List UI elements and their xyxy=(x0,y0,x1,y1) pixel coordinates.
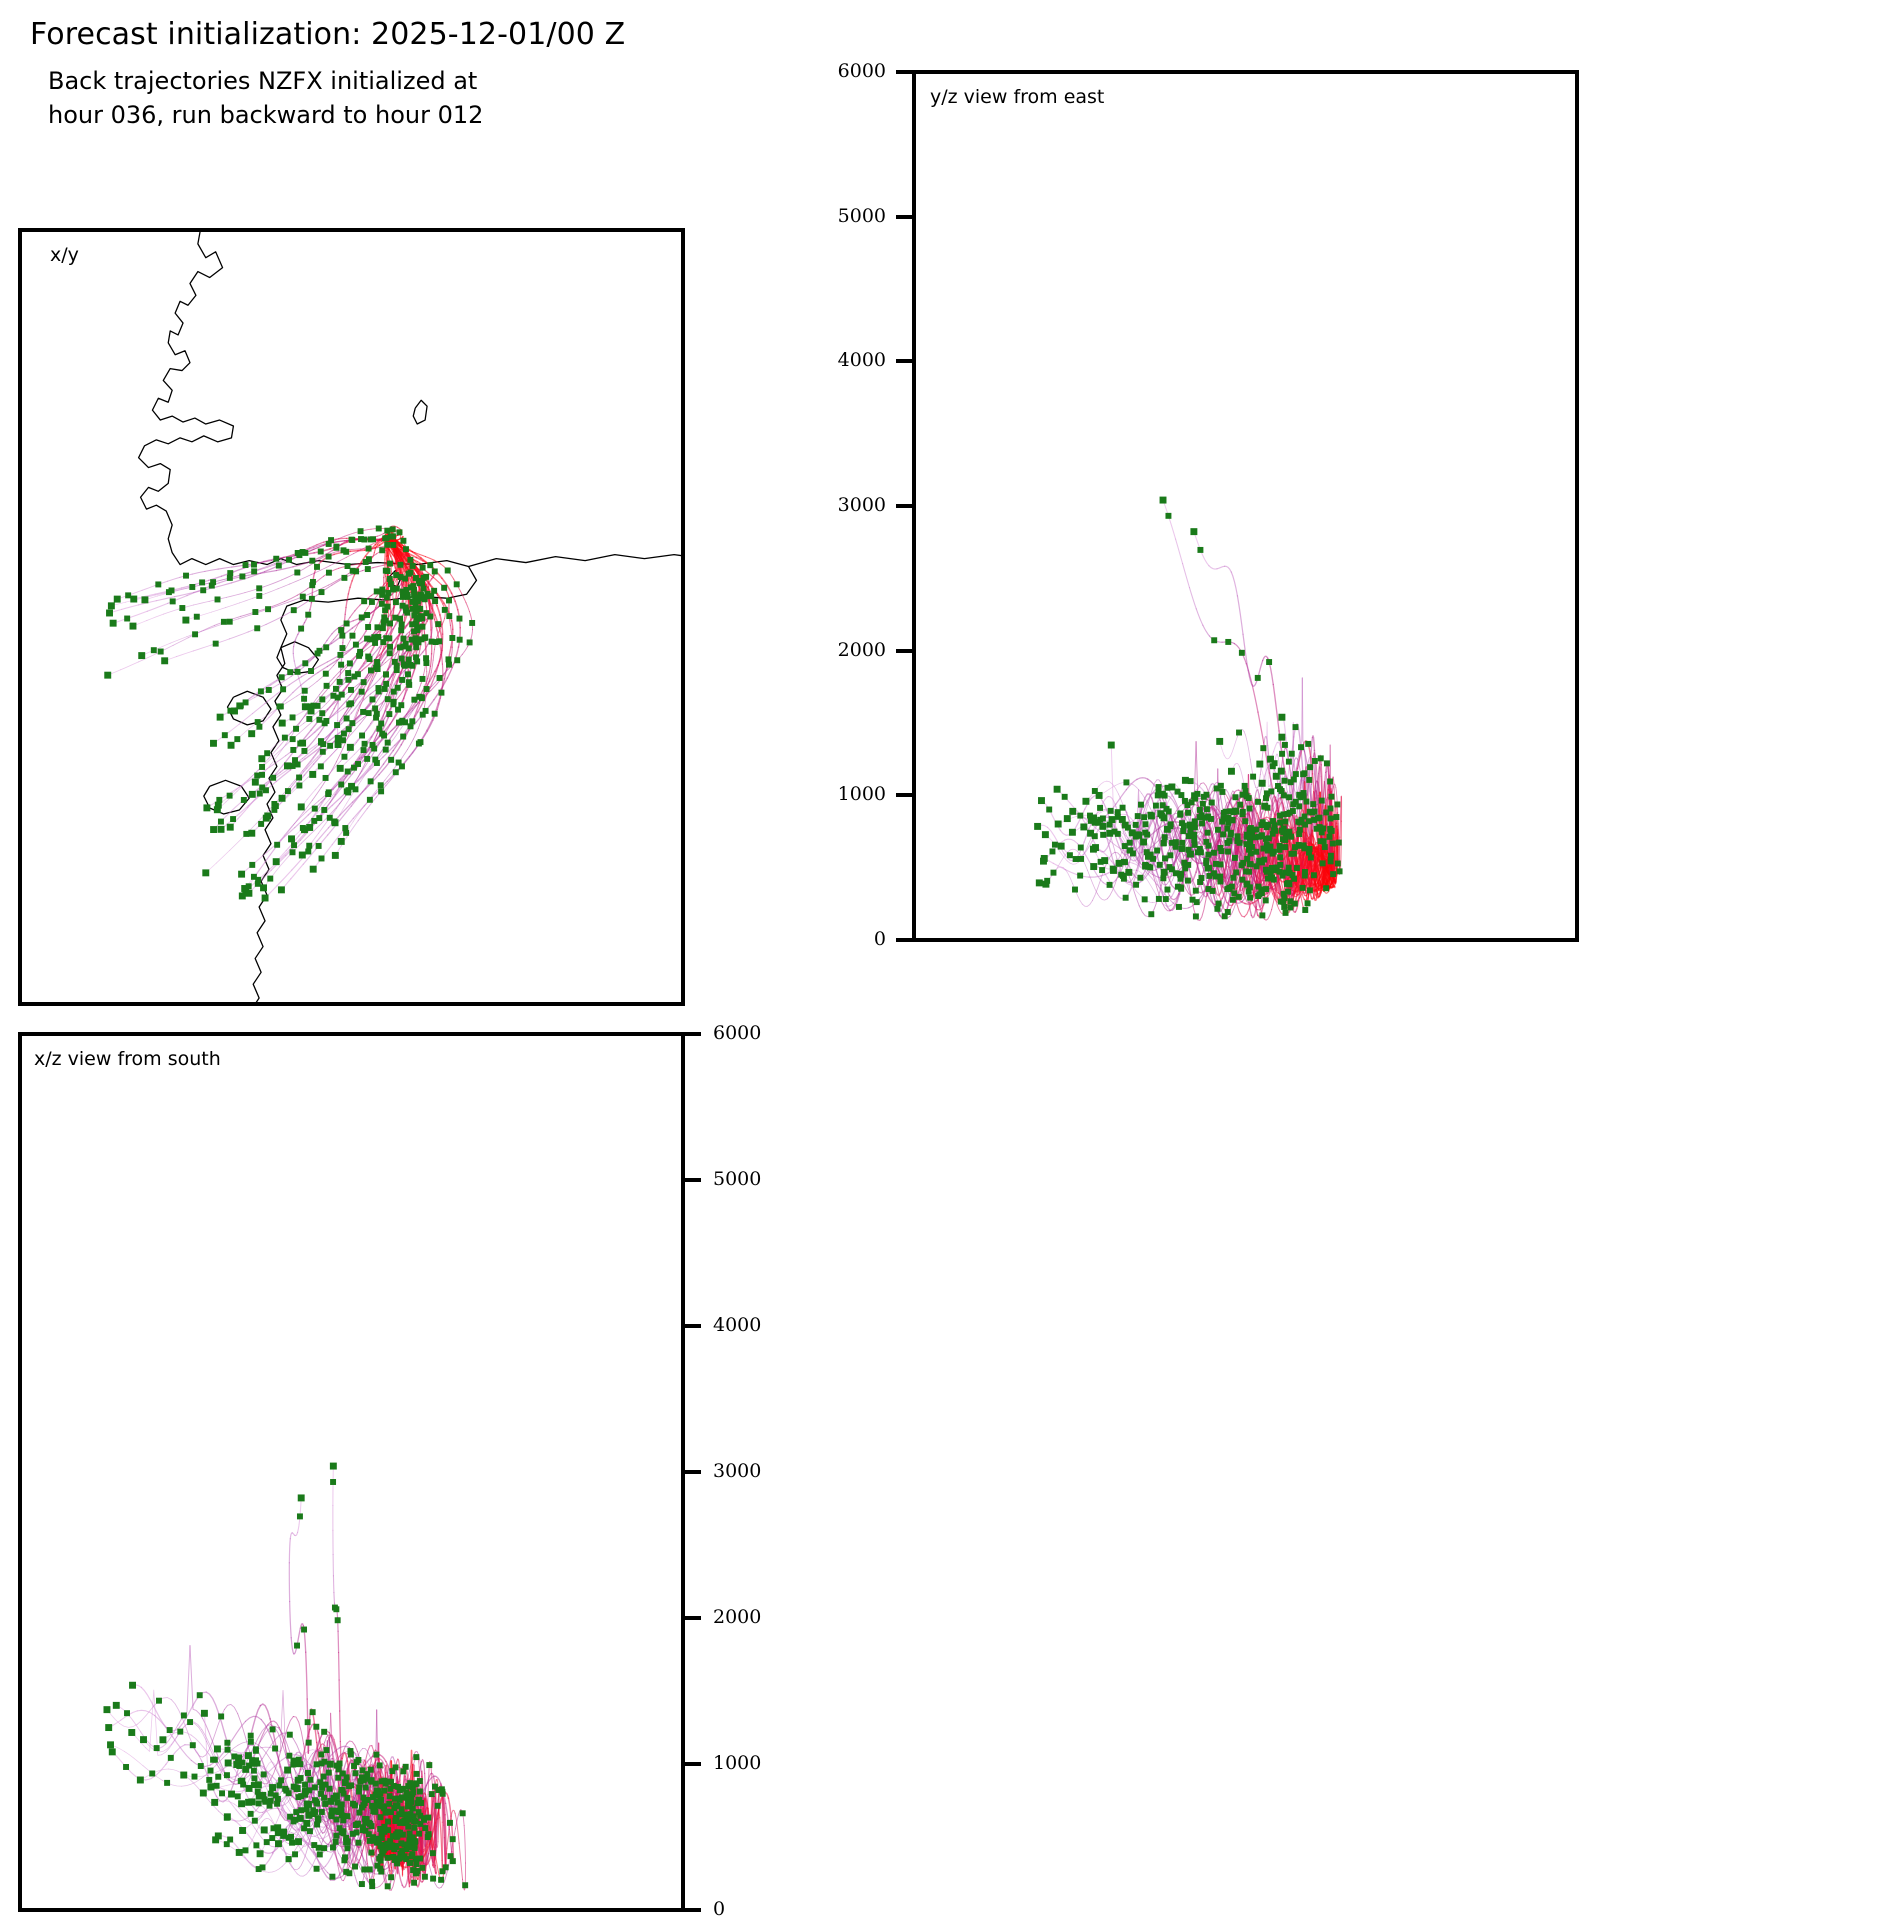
y-tick xyxy=(681,1178,701,1182)
y-tick-label: 5000 xyxy=(838,207,886,226)
y-tick xyxy=(681,1762,701,1766)
panel-label-yz: y/z view from east xyxy=(930,88,1104,107)
y-tick-label: 2000 xyxy=(838,641,886,660)
panel-label-xy: x/y xyxy=(50,246,79,265)
y-tick xyxy=(896,504,916,508)
header-block: Forecast initialization: 2025-12-01/00 Z… xyxy=(30,18,850,132)
y-tick-label: 1000 xyxy=(838,785,886,804)
plot-area-xy xyxy=(22,232,681,1002)
y-tick-label: 4000 xyxy=(838,351,886,370)
y-tick xyxy=(681,1470,701,1474)
y-tick xyxy=(896,793,916,797)
y-tick xyxy=(896,215,916,219)
y-tick-label: 4000 xyxy=(713,1316,761,1335)
y-axis-xz: 6000500040003000200010000 xyxy=(681,1032,801,1912)
y-tick-label: 1000 xyxy=(713,1754,761,1773)
plot-panel-yz[interactable]: y/z view from east xyxy=(912,70,1579,942)
y-axis-yz: 6000500040003000200010000 xyxy=(792,70,916,942)
y-tick-label: 0 xyxy=(713,1900,725,1919)
y-tick-label: 6000 xyxy=(838,62,886,81)
page-title: Forecast initialization: 2025-12-01/00 Z xyxy=(30,18,850,52)
y-tick xyxy=(896,938,916,942)
y-tick-label: 2000 xyxy=(713,1608,761,1627)
y-tick-label: 6000 xyxy=(713,1024,761,1043)
y-tick xyxy=(896,359,916,363)
plot-area-xz xyxy=(22,1036,681,1908)
y-tick xyxy=(681,1908,701,1912)
subtitle-line-2: hour 036, run backward to hour 012 xyxy=(48,98,850,132)
y-tick-label: 3000 xyxy=(838,496,886,515)
y-tick xyxy=(681,1032,701,1036)
subtitle-line-1: Back trajectories NZFX initialized at xyxy=(48,64,850,98)
y-tick xyxy=(896,70,916,74)
y-tick-label: 3000 xyxy=(713,1462,761,1481)
y-tick xyxy=(681,1616,701,1620)
page-subtitle: Back trajectories NZFX initialized at ho… xyxy=(48,64,850,132)
plot-panel-xz[interactable]: x/z view from south xyxy=(18,1032,685,1912)
plot-area-yz xyxy=(916,74,1575,938)
y-tick xyxy=(896,649,916,653)
plot-panel-xy[interactable]: x/y xyxy=(18,228,685,1006)
y-tick xyxy=(681,1324,701,1328)
panel-label-xz: x/z view from south xyxy=(34,1050,221,1069)
y-tick-label: 5000 xyxy=(713,1170,761,1189)
y-tick-label: 0 xyxy=(874,930,886,949)
